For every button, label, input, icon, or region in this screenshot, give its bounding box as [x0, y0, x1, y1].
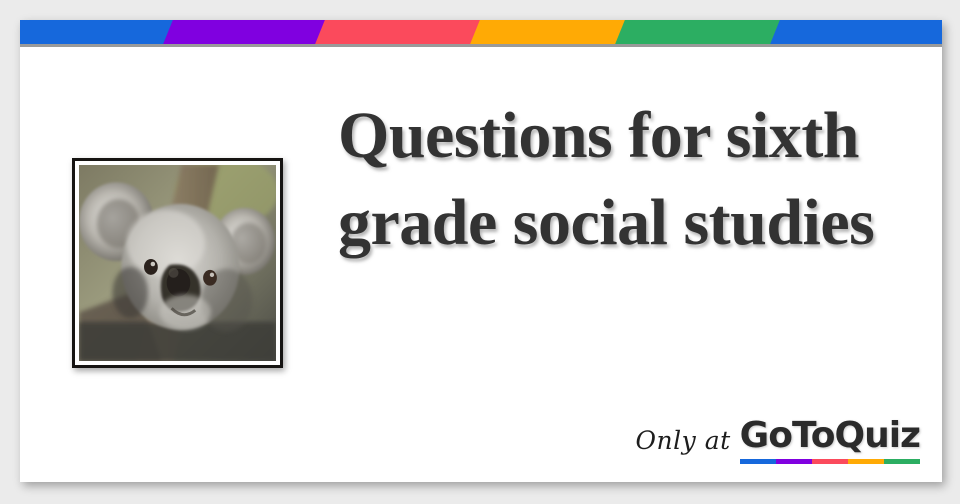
brand-rule-segment [776, 459, 812, 464]
koala-photo-illustration [79, 165, 276, 361]
brand-rule-segment [812, 459, 848, 464]
brand-logo[interactable]: GoToQuiz [740, 418, 920, 464]
ribbon-segment-orange [470, 20, 632, 44]
ribbon-underline [20, 44, 942, 47]
ribbon-segment-green [615, 20, 787, 44]
brand-rule-segment [884, 459, 920, 464]
brand-name: GoToQuiz [740, 418, 920, 454]
page-title: Questions for sixth grade social studies [338, 92, 928, 266]
brand-footer[interactable]: Only at GoToQuiz [636, 418, 920, 464]
koala-thumbnail-frame [72, 158, 283, 368]
brand-underline-rule [740, 459, 920, 464]
quiz-title-card: Questions for sixth grade social studies… [20, 20, 942, 482]
rainbow-ribbon [20, 20, 942, 44]
ribbon-segment-blue-right [770, 20, 942, 44]
ribbon-segment-red [315, 20, 487, 44]
koala-photo [79, 165, 276, 361]
brand-rule-segment [740, 459, 776, 464]
ribbon-segment-blue-left [20, 20, 176, 44]
brand-rule-segment [848, 459, 884, 464]
brand-prefix: Only at [636, 428, 731, 464]
